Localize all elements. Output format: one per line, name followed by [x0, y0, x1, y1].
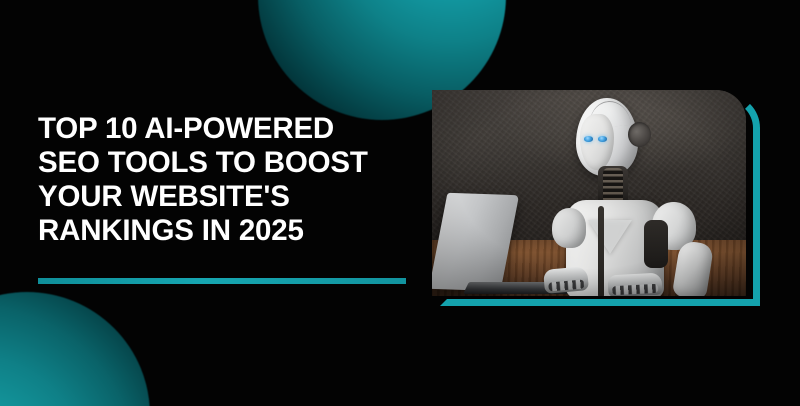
- robot-eye-right: [598, 136, 607, 142]
- headline-divider: [38, 278, 406, 284]
- hero-image: [432, 90, 746, 296]
- robot-hand-left: [543, 266, 589, 294]
- blog-banner: TOP 10 AI-POWERED SEO TOOLS TO BOOST YOU…: [0, 0, 800, 406]
- headline-line-2: SEO TOOLS TO BOOST: [38, 146, 418, 180]
- humanoid-robot: [540, 92, 746, 296]
- page-title: TOP 10 AI-POWERED SEO TOOLS TO BOOST YOU…: [38, 112, 418, 248]
- headline-line-1: TOP 10 AI-POWERED: [38, 112, 418, 146]
- headline-line-3: YOUR WEBSITE'S: [38, 180, 418, 214]
- robot-ear: [628, 122, 651, 147]
- robot-chest-strap: [598, 206, 604, 296]
- robot-chest-plate: [588, 220, 632, 254]
- headline-block: TOP 10 AI-POWERED SEO TOOLS TO BOOST YOU…: [38, 112, 418, 248]
- headline-line-4: RANKINGS IN 2025: [38, 214, 418, 248]
- robot-arm-joint-right: [644, 220, 668, 268]
- teal-circle-bottom-decoration: [0, 292, 150, 406]
- robot-eye-left: [584, 136, 593, 142]
- photo-scene: [432, 90, 746, 296]
- robot-shoulder-left: [552, 208, 586, 248]
- hero-image-card: [432, 90, 752, 302]
- robot-hand-right: [607, 273, 662, 296]
